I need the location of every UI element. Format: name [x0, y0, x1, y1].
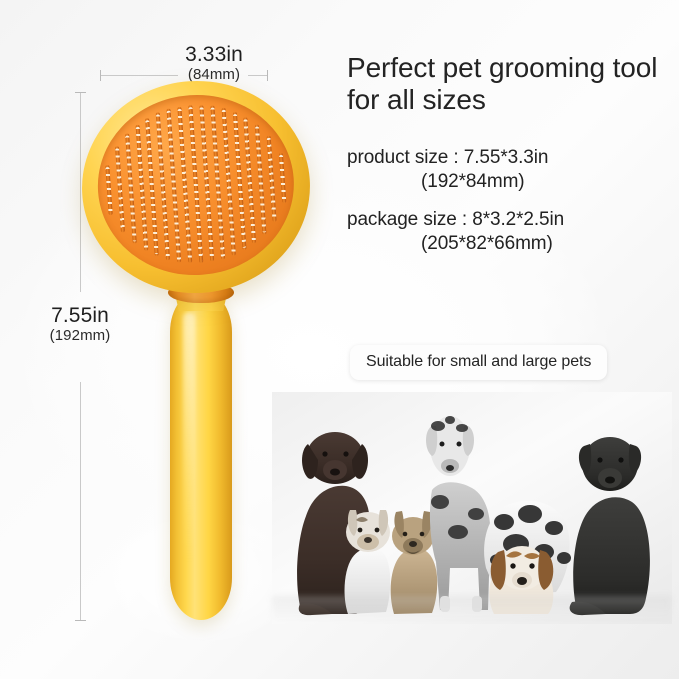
- spec-package-size-metric: (205*82*66mm): [347, 232, 564, 256]
- spec-product-size: product size : 7.55*3.3in (192*84mm): [347, 146, 548, 194]
- brush-pin-highlights: [244, 119, 257, 241]
- brush-pin-highlights: [279, 155, 286, 202]
- page-title: Perfect pet grooming tool for all sizes: [347, 52, 667, 117]
- brush-pin-highlights: [135, 127, 148, 249]
- brush-pin-highlights: [115, 148, 125, 231]
- brush-pins: [92, 88, 300, 281]
- brush-handle: [170, 290, 232, 620]
- brush-pin-highlights: [255, 127, 266, 233]
- dog-kerry-blue-terrier: [570, 437, 650, 615]
- spec-package-size-label: package size : 8*3.2*2.5in: [347, 209, 564, 230]
- dogs-group-photo: [272, 392, 672, 624]
- photo-floor-shadow: [272, 596, 672, 622]
- width-inches: 3.33in: [148, 44, 280, 67]
- brush-pin-highlights: [267, 137, 277, 220]
- brush-pin-highlights: [105, 167, 112, 214]
- brush-head-pad: [92, 88, 300, 281]
- spec-package-size: package size : 8*3.2*2.5in (205*82*66mm): [347, 208, 564, 256]
- product-infographic: 3.33in (84mm) 7.55in (192mm) Perfect pet…: [0, 0, 679, 679]
- brush-head-rim: [75, 73, 317, 300]
- spec-product-size-label: product size : 7.55*3.3in: [347, 147, 548, 168]
- spec-product-size-metric: (192*84mm): [347, 170, 548, 194]
- status-badge: Suitable for small and large pets: [350, 345, 607, 380]
- brush-pin-highlights: [125, 136, 136, 242]
